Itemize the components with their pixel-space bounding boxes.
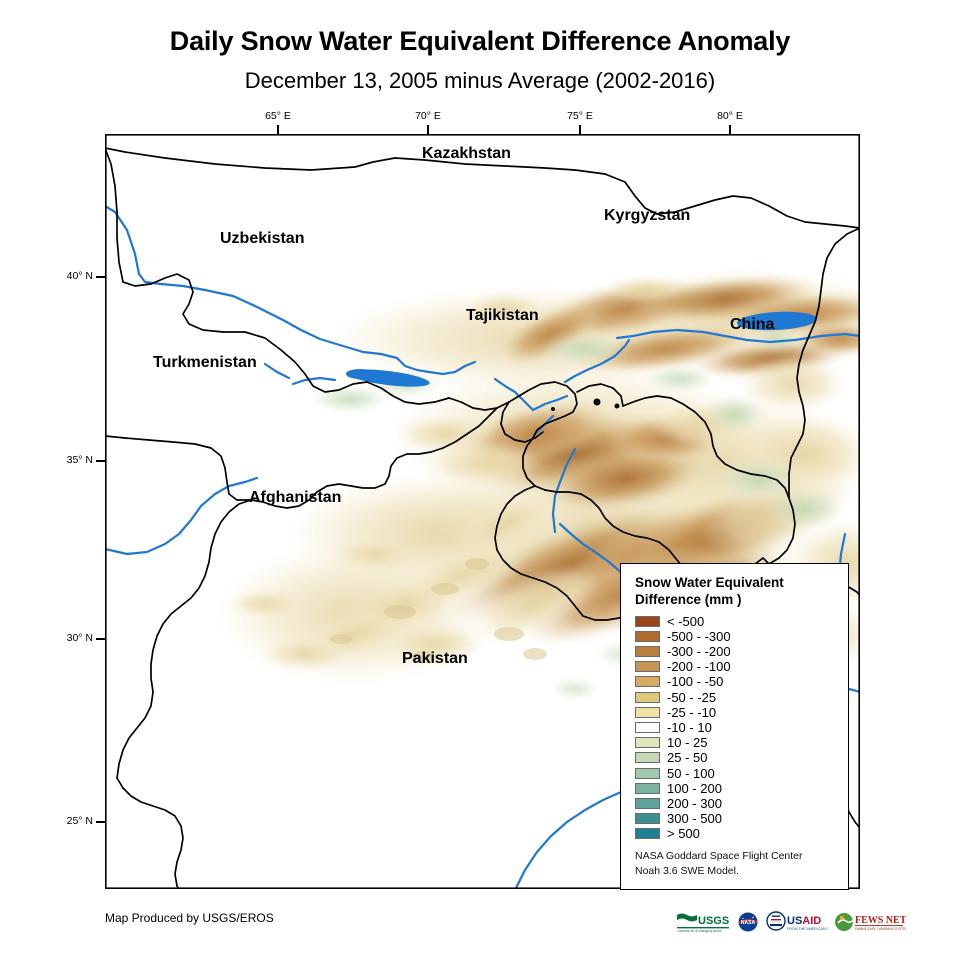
legend-swatch — [635, 707, 660, 718]
legend-row: -10 - 10 — [635, 720, 848, 735]
country-label-uzbekistan: Uzbekistan — [220, 230, 304, 248]
lat-tick-label: 35° N — [53, 454, 93, 466]
country-label-china: China — [730, 316, 774, 334]
svg-text:FAMINE EARLY WARNING SYSTEMS N: FAMINE EARLY WARNING SYSTEMS NETWORK — [855, 927, 906, 931]
legend-row: 300 - 500 — [635, 811, 848, 826]
legend-row: -50 - -25 — [635, 689, 848, 704]
legend-row: < -500 — [635, 614, 848, 629]
legend-label: 200 - 300 — [667, 796, 722, 811]
legend-row: -25 - -10 — [635, 705, 848, 720]
lon-tick-label: 65° E — [260, 110, 296, 122]
country-label-kyrgyzstan: Kyrgyzstan — [604, 207, 690, 225]
legend-row: 10 - 25 — [635, 735, 848, 750]
legend-row: -500 - -300 — [635, 629, 848, 644]
legend-row: 100 - 200 — [635, 781, 848, 796]
legend-swatch — [635, 752, 660, 763]
lat-tick-mark — [96, 821, 105, 823]
legend-swatch — [635, 631, 660, 642]
legend-row: -300 - -200 — [635, 644, 848, 659]
legend-label: -200 - -100 — [667, 659, 731, 674]
svg-text:USAID: USAID — [787, 915, 821, 927]
legend-swatch — [635, 616, 660, 627]
legend-row: 50 - 100 — [635, 765, 848, 780]
legend-label: 300 - 500 — [667, 811, 722, 826]
legend-entries: < -500-500 - -300-300 - -200-200 - -100-… — [635, 614, 848, 842]
legend-label: 10 - 25 — [667, 735, 707, 750]
svg-text:FEWS NET: FEWS NET — [855, 915, 906, 926]
lon-tick-mark — [579, 125, 581, 134]
lat-tick-label: 40° N — [53, 270, 93, 282]
legend-swatch — [635, 768, 660, 779]
legend-swatch — [635, 798, 660, 809]
fewsnet-logo: FEWS NET FAMINE EARLY WARNING SYSTEMS NE… — [834, 911, 906, 933]
legend-title: Snow Water Equivalent Difference (mm ) — [635, 574, 848, 609]
agency-logos: USGS science for a changing world NASA U… — [676, 909, 906, 935]
legend-swatch — [635, 783, 660, 794]
legend-label: < -500 — [667, 614, 704, 629]
lon-tick-mark — [729, 125, 731, 134]
country-label-kazakhstan: Kazakhstan — [422, 145, 511, 163]
lat-tick-mark — [96, 638, 105, 640]
legend-label: -300 - -200 — [667, 644, 731, 659]
legend-label: -10 - 10 — [667, 720, 712, 735]
country-label-turkmenistan: Turkmenistan — [153, 354, 257, 372]
legend-label: > 500 — [667, 826, 700, 841]
legend-label: 100 - 200 — [667, 781, 722, 796]
page-subtitle: December 13, 2005 minus Average (2002-20… — [0, 68, 960, 94]
legend-row: > 500 — [635, 826, 848, 841]
svg-text:NASA: NASA — [741, 920, 756, 926]
lat-tick-mark — [96, 460, 105, 462]
lat-tick-mark — [96, 276, 105, 278]
lon-tick-mark — [427, 125, 429, 134]
legend-note-line1: NASA Goddard Space Flight Center — [635, 849, 848, 864]
legend-title-line2: Difference (mm ) — [635, 591, 848, 608]
legend-swatch — [635, 676, 660, 687]
legend-row: -100 - -50 — [635, 674, 848, 689]
legend-swatch — [635, 737, 660, 748]
country-label-afghanistan: Afghanistan — [249, 489, 341, 507]
legend-note: NASA Goddard Space Flight Center Noah 3.… — [635, 849, 848, 879]
page-title: Daily Snow Water Equivalent Difference A… — [0, 26, 960, 57]
country-label-tajikistan: Tajikistan — [466, 307, 539, 325]
lon-tick-label: 80° E — [712, 110, 748, 122]
legend-note-line2: Noah 3.6 SWE Model. — [635, 864, 848, 879]
legend-row: 200 - 300 — [635, 796, 848, 811]
legend-label: 25 - 50 — [667, 750, 707, 765]
legend-swatch — [635, 828, 660, 839]
usaid-logo: USAID FROM THE AMERICAN PEOPLE — [766, 911, 828, 933]
legend-label: 50 - 100 — [667, 766, 715, 781]
usgs-logo: USGS science for a changing world — [676, 911, 730, 933]
lon-tick-mark — [277, 125, 279, 134]
nasa-logo: NASA — [736, 911, 760, 933]
lat-tick-label: 25° N — [53, 815, 93, 827]
lon-tick-label: 70° E — [410, 110, 446, 122]
svg-text:USGS: USGS — [698, 915, 729, 927]
legend-swatch — [635, 646, 660, 657]
map-credit: Map Produced by USGS/EROS — [105, 911, 274, 925]
legend-row: -200 - -100 — [635, 659, 848, 674]
legend-swatch — [635, 813, 660, 824]
legend-label: -25 - -10 — [667, 705, 716, 720]
legend-swatch — [635, 692, 660, 703]
legend-swatch — [635, 661, 660, 672]
country-label-pakistan: Pakistan — [402, 650, 468, 668]
legend-swatch — [635, 722, 660, 733]
svg-text:FROM THE AMERICAN PEOPLE: FROM THE AMERICAN PEOPLE — [787, 927, 828, 931]
legend-row: 25 - 50 — [635, 750, 848, 765]
lon-tick-label: 75° E — [562, 110, 598, 122]
legend-title-line1: Snow Water Equivalent — [635, 574, 848, 591]
lat-tick-label: 30° N — [53, 632, 93, 644]
legend-label: -50 - -25 — [667, 690, 716, 705]
legend-label: -100 - -50 — [667, 674, 723, 689]
svg-text:science for a changing world: science for a changing world — [678, 929, 721, 933]
map-legend[interactable]: Snow Water Equivalent Difference (mm ) <… — [620, 563, 849, 890]
legend-label: -500 - -300 — [667, 629, 731, 644]
